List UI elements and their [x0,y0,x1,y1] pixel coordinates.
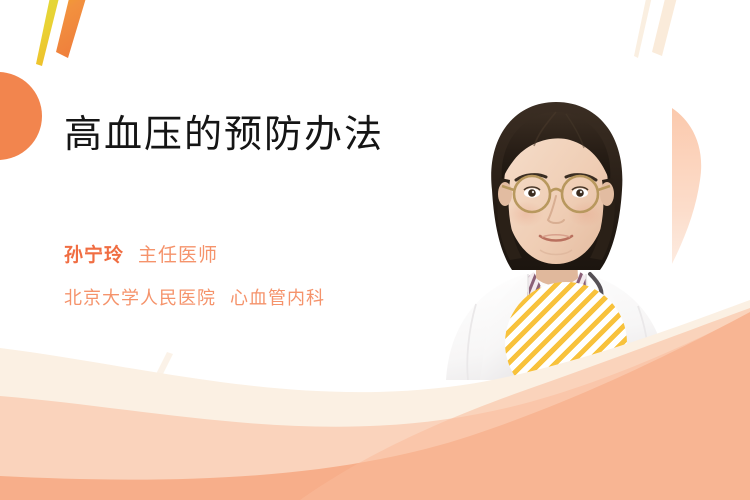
byline: 孙宁玲主任医师 [64,240,444,267]
diagonal-stripes-top-right-icon [628,0,698,62]
video-cover-card: 高血压的预防办法 孙宁玲主任医师 北京大学人民医院心血管内科 [0,0,750,500]
orange-circle-decoration [0,72,42,160]
diagonal-stripes-top-left-icon [30,0,100,70]
hospital-name: 北京大学人民医院 [64,288,216,308]
doctor-title: 主任医师 [138,245,218,266]
text-block: 高血压的预防办法 孙宁玲主任医师 北京大学人民医院心血管内科 [64,112,444,310]
doctor-portrait [440,78,672,380]
doctor-name: 孙宁玲 [64,245,124,266]
page-title: 高血压的预防办法 [64,112,444,158]
department-name: 心血管内科 [230,288,325,308]
diagonal-stripe-bottom-left-icon [140,352,180,400]
affiliation: 北京大学人民医院心血管内科 [64,284,444,310]
